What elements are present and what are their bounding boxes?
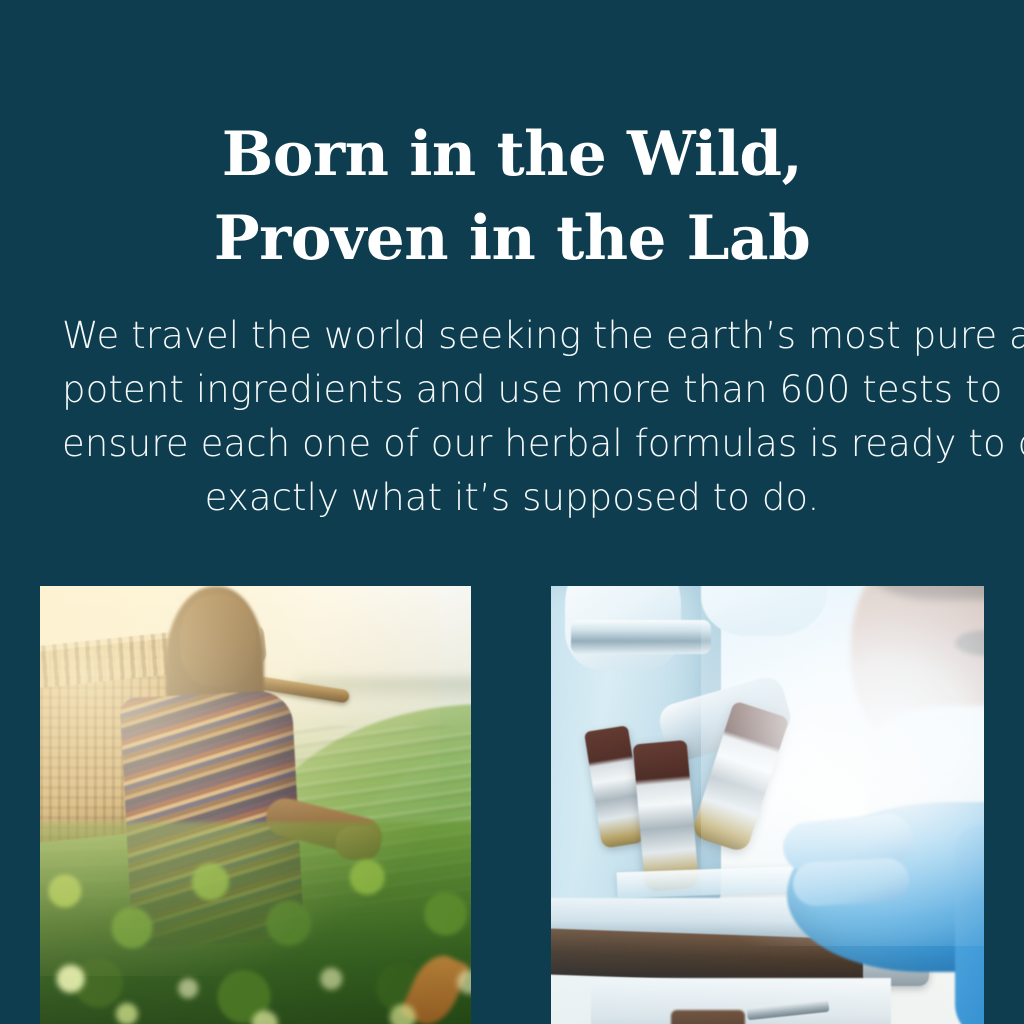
hero-body-copy: We travel the world seeking the earth’s … bbox=[62, 309, 962, 525]
body-line-1: We travel the world seeking the earth’s … bbox=[62, 309, 962, 363]
harvester-head bbox=[180, 594, 256, 686]
body-line-3: ensure each one of our herbal formulas i… bbox=[62, 417, 962, 471]
glove-finger-lower bbox=[792, 857, 910, 907]
glove-wrist bbox=[955, 824, 984, 1024]
headline-line-1: Born in the Wild, bbox=[0, 113, 1024, 197]
brand-promo-poster: Born in the Wild, Proven in the Lab We t… bbox=[0, 0, 1024, 1024]
headline-line-2: Proven in the Lab bbox=[0, 197, 1024, 281]
microscope-foot bbox=[671, 1010, 745, 1024]
photo-strip bbox=[0, 570, 1024, 1024]
photo-lab-testing bbox=[551, 586, 984, 1024]
page-title: Born in the Wild, Proven in the Lab bbox=[0, 113, 1024, 281]
hero-panel: Born in the Wild, Proven in the Lab We t… bbox=[0, 0, 1024, 570]
photo-wild-harvest bbox=[40, 586, 471, 1024]
microscope-collar bbox=[571, 620, 711, 654]
sun-bokeh bbox=[40, 886, 471, 1024]
body-line-2: potent ingredients and use more than 600… bbox=[62, 363, 962, 417]
body-line-4: exactly what it’s supposed to do. bbox=[62, 471, 962, 525]
